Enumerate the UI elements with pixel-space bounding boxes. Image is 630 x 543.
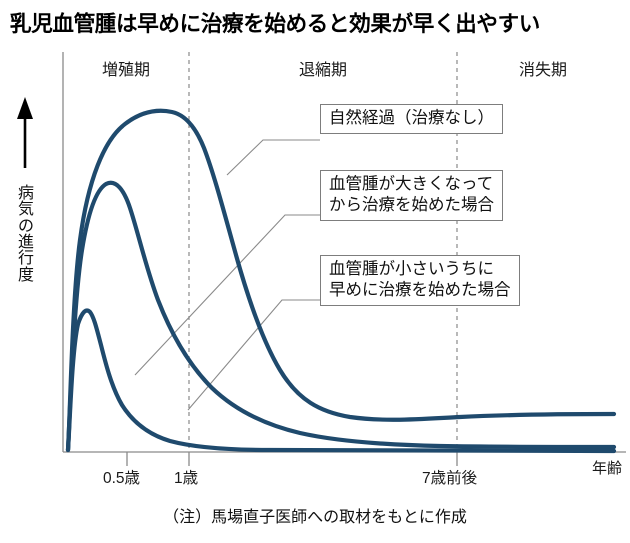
callout-late-treatment[interactable]: 血管腫が大きくなって から治療を始めた場合 xyxy=(320,170,503,221)
y-axis-label-char-5: 行 xyxy=(14,251,38,267)
y-axis-label-char-3: の xyxy=(14,219,38,235)
callout-natural-course[interactable]: 自然経過（治療なし） xyxy=(320,104,503,134)
y-axis-label-char-2: 気 xyxy=(14,202,38,218)
infographic-page: 乳児血管腫は早めに治療を始めると効果が早く出やすい 増殖期 退縮期 消失期 xyxy=(0,0,630,543)
x-tick-label-one-year: 1歳 xyxy=(174,466,198,488)
y-axis-label-char-1: 病 xyxy=(14,186,38,202)
source-footnote: （注）馬場直子医師への取材をもとに作成 xyxy=(0,503,630,527)
leader-line-late-treatment xyxy=(135,215,320,375)
callout-early-treatment-line-1: 血管腫が小さいうちに xyxy=(329,259,511,280)
y-axis-label-char-6: 度 xyxy=(14,268,38,284)
curve-late-treatment xyxy=(68,183,614,450)
x-tick-label-seven-years: 7歳前後 xyxy=(422,466,477,488)
chart-plot-area xyxy=(0,0,630,543)
callout-late-treatment-line-2: から治療を始めた場合 xyxy=(329,195,494,216)
callout-natural-course-line-1: 自然経過（治療なし） xyxy=(329,108,494,129)
y-axis-arrow-icon xyxy=(17,97,33,168)
x-tick-label-half-year: 0.5歳 xyxy=(103,466,140,488)
callout-early-treatment[interactable]: 血管腫が小さいうちに 早めに治療を始めた場合 xyxy=(320,255,520,306)
x-axis-label: 年齢 xyxy=(592,457,622,478)
callout-early-treatment-line-2: 早めに治療を始めた場合 xyxy=(329,280,511,301)
y-axis-label: 病 気 の 進 行 度 xyxy=(14,186,38,284)
y-axis-label-char-4: 進 xyxy=(14,235,38,251)
leader-line-natural-course xyxy=(227,140,320,175)
callout-late-treatment-line-1: 血管腫が大きくなって xyxy=(329,174,494,195)
curve-early-treatment xyxy=(68,311,614,452)
